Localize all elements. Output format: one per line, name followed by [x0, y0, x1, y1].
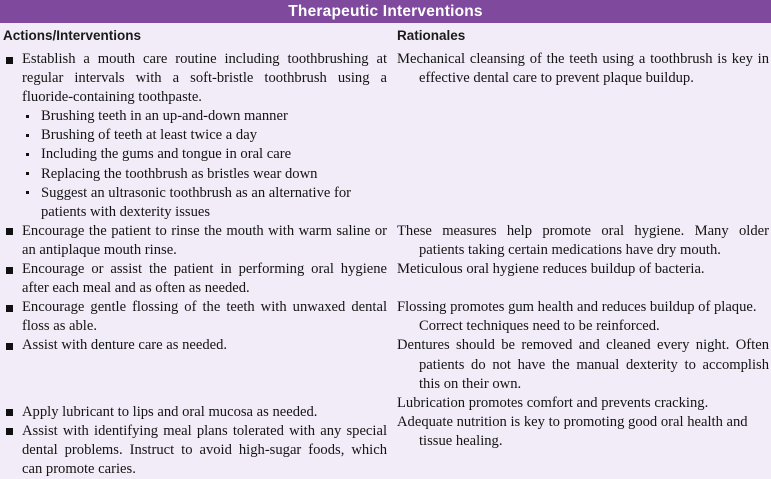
page-title: Therapeutic Interventions	[288, 0, 482, 23]
rationale-paragraph: Dentures should be removed and cleaned e…	[397, 336, 769, 393]
square-bullet-icon	[6, 428, 13, 435]
list-item-text: Assist with denture care as needed.	[22, 337, 227, 353]
interventions-table: Actions/Interventions Establish a mouth …	[0, 23, 771, 479]
square-bullet-icon	[6, 305, 13, 312]
dot-bullet-icon	[26, 115, 29, 118]
list-item-text: Encourage or assist the patient in perfo…	[22, 261, 387, 296]
list-item: Encourage or assist the patient in perfo…	[3, 260, 387, 298]
rationale-paragraph: Adequate nutrition is key to promoting g…	[397, 413, 769, 451]
square-bullet-icon	[6, 57, 13, 64]
row-spacer	[3, 394, 387, 403]
row-spacer	[397, 126, 769, 145]
list-item: Replacing the toothbrush as bristles wea…	[3, 165, 387, 184]
list-item: Encourage the patient to rinse the mouth…	[3, 222, 387, 260]
list-item: Assist with identifying meal plans toler…	[3, 422, 387, 479]
row-spacer	[397, 279, 769, 298]
dot-bullet-icon	[26, 191, 29, 194]
list-item-text: Brushing of teeth at least twice a day	[41, 127, 257, 143]
list-item: Apply lubricant to lips and oral mucosa …	[3, 403, 387, 422]
list-item: Including the gums and tongue in oral ca…	[3, 145, 387, 164]
list-item-text: Brushing teeth in an up-and-down manner	[41, 108, 288, 124]
list-item-text: Replacing the toothbrush as bristles wea…	[41, 166, 317, 182]
rationale-paragraph: Meticulous oral hygiene reduces buildup …	[397, 260, 769, 279]
square-bullet-icon	[6, 409, 13, 416]
list-item: Suggest an ultrasonic toothbrush as an a…	[3, 184, 387, 222]
rationales-list: Mechanical cleansing of the teeth using …	[397, 50, 769, 451]
rationale-paragraph: These measures help promote oral hygiene…	[397, 222, 769, 260]
list-item: Establish a mouth care routine including…	[3, 50, 387, 107]
list-item-text: Suggest an ultrasonic toothbrush as an a…	[41, 185, 351, 220]
row-spacer	[397, 184, 769, 203]
row-spacer	[3, 375, 387, 394]
actions-list: Establish a mouth care routine including…	[3, 50, 387, 479]
dot-bullet-icon	[26, 134, 29, 137]
list-item: Encourage gentle flossing of the teeth w…	[3, 298, 387, 336]
list-item-text: Apply lubricant to lips and oral mucosa …	[22, 404, 317, 420]
row-spacer	[397, 145, 769, 164]
list-item: Brushing teeth in an up-and-down manner	[3, 107, 387, 126]
list-item-text: Encourage gentle flossing of the teeth w…	[22, 299, 387, 334]
list-item: Brushing of teeth at least twice a day	[3, 126, 387, 145]
row-spacer	[397, 107, 769, 126]
dot-bullet-icon	[26, 172, 29, 175]
column-header-actions: Actions/Interventions	[3, 28, 387, 44]
column-actions-interventions: Actions/Interventions Establish a mouth …	[0, 28, 393, 479]
row-spacer	[397, 203, 769, 222]
dot-bullet-icon	[26, 153, 29, 156]
list-item-text: Establish a mouth care routine including…	[22, 51, 387, 105]
square-bullet-icon	[6, 343, 13, 350]
rationale-paragraph: Flossing promotes gum health and reduces…	[397, 298, 769, 336]
list-item: Assist with denture care as needed.	[3, 336, 387, 355]
list-item-text: Including the gums and tongue in oral ca…	[41, 146, 291, 162]
actions-sublist: Brushing teeth in an up-and-down manner …	[3, 107, 387, 222]
row-spacer	[397, 165, 769, 184]
rationale-paragraph: Lubrication promotes comfort and prevent…	[397, 394, 769, 413]
row-spacer	[3, 356, 387, 375]
rationale-paragraph: Mechanical cleansing of the teeth using …	[397, 50, 769, 88]
column-header-rationales: Rationales	[397, 28, 769, 44]
square-bullet-icon	[6, 228, 13, 235]
list-item-text: Assist with identifying meal plans toler…	[22, 423, 387, 477]
table-title-bar: Therapeutic Interventions	[0, 0, 771, 23]
square-bullet-icon	[6, 267, 13, 274]
list-item-text: Encourage the patient to rinse the mouth…	[22, 223, 387, 258]
column-rationales: Rationales Mechanical cleansing of the t…	[393, 28, 771, 451]
row-spacer	[397, 88, 769, 107]
